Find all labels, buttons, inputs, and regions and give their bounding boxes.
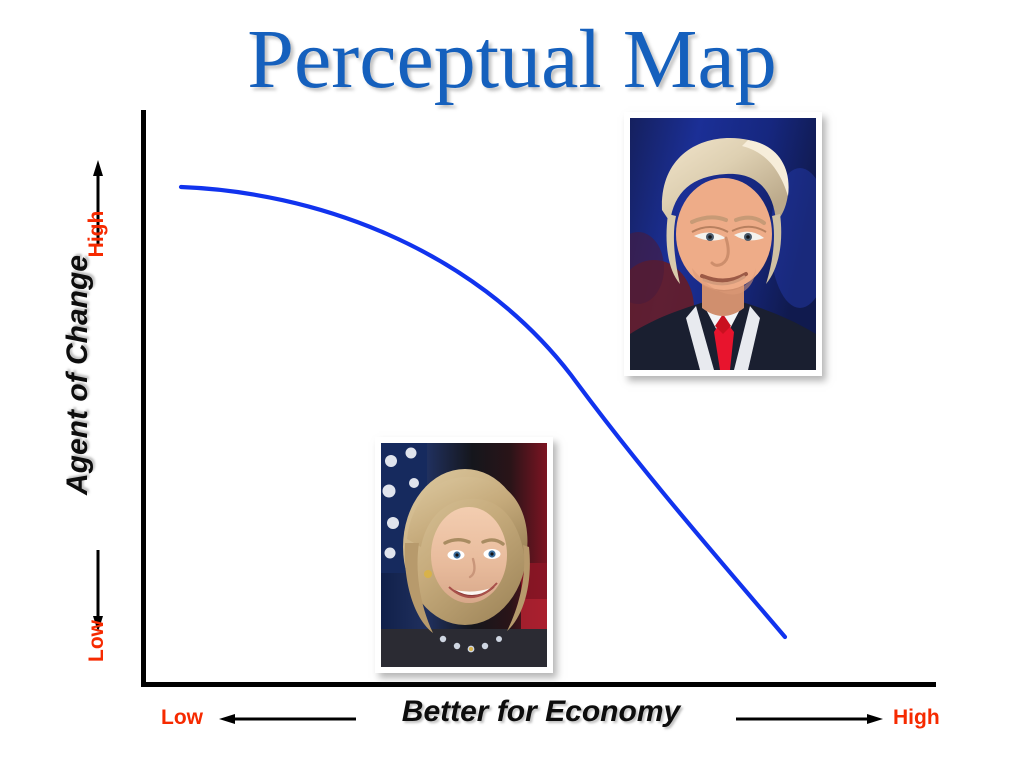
donald-trump-photo-card[interactable] — [624, 112, 822, 376]
perceptual-map-slide: Perceptual Map — [0, 0, 1024, 768]
x-axis-high-label: High — [893, 706, 940, 730]
donald-trump-portrait-icon — [630, 118, 816, 370]
x-axis-title: Better for Economy — [371, 695, 711, 729]
photo-frame-trump — [630, 118, 816, 370]
y-axis-low-label: Low — [85, 606, 109, 676]
page-title: Perceptual Map — [0, 12, 1024, 108]
x-axis-low-label: Low — [161, 706, 203, 730]
y-axis-label-group: High Agent of Change Low — [0, 110, 135, 687]
hillary-clinton-portrait-icon — [381, 443, 547, 667]
x-axis-label-group: Low Better for Economy High — [141, 695, 1021, 745]
photo-frame-clinton — [381, 443, 547, 667]
y-axis-title: Agent of Change — [61, 225, 95, 525]
hillary-clinton-photo-card[interactable] — [375, 437, 553, 673]
